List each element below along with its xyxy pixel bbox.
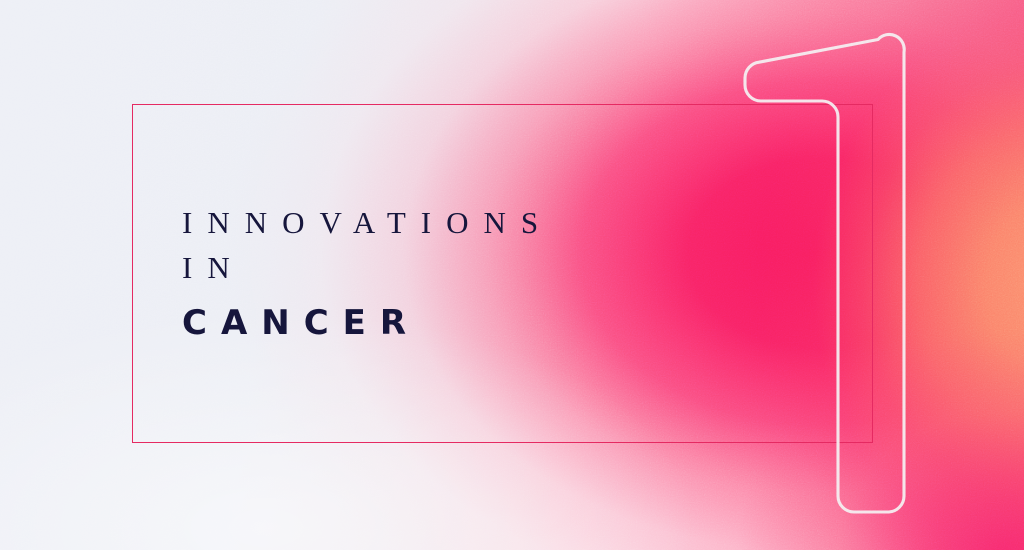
- headline-line-in: IN: [182, 245, 553, 290]
- poster-canvas: INNOVATIONS IN CANCER: [0, 0, 1024, 550]
- headline-block: INNOVATIONS IN CANCER: [182, 200, 553, 348]
- headline-line-innovations: INNOVATIONS: [182, 200, 553, 245]
- headline-line-cancer: CANCER: [182, 298, 553, 348]
